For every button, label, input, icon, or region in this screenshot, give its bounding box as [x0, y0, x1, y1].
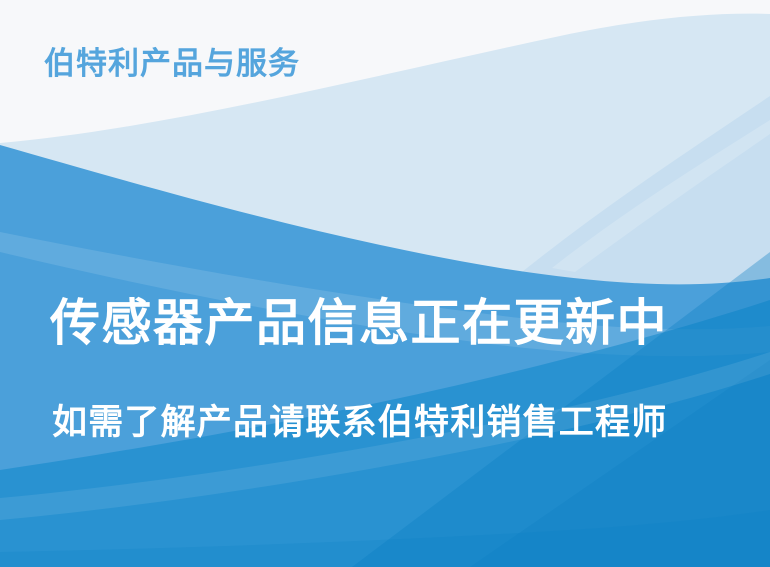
- headline-secondary: 如需了解产品请联系伯特利销售工程师: [52, 404, 667, 443]
- promo-banner: 伯特利产品与服务 传感器产品信息正在更新中 如需了解产品请联系伯特利销售工程师: [0, 0, 770, 567]
- headline-primary: 传感器产品信息正在更新中: [50, 296, 668, 351]
- banner-text-layer: 伯特利产品与服务 传感器产品信息正在更新中 如需了解产品请联系伯特利销售工程师: [0, 0, 770, 567]
- brand-title: 伯特利产品与服务: [44, 46, 300, 82]
